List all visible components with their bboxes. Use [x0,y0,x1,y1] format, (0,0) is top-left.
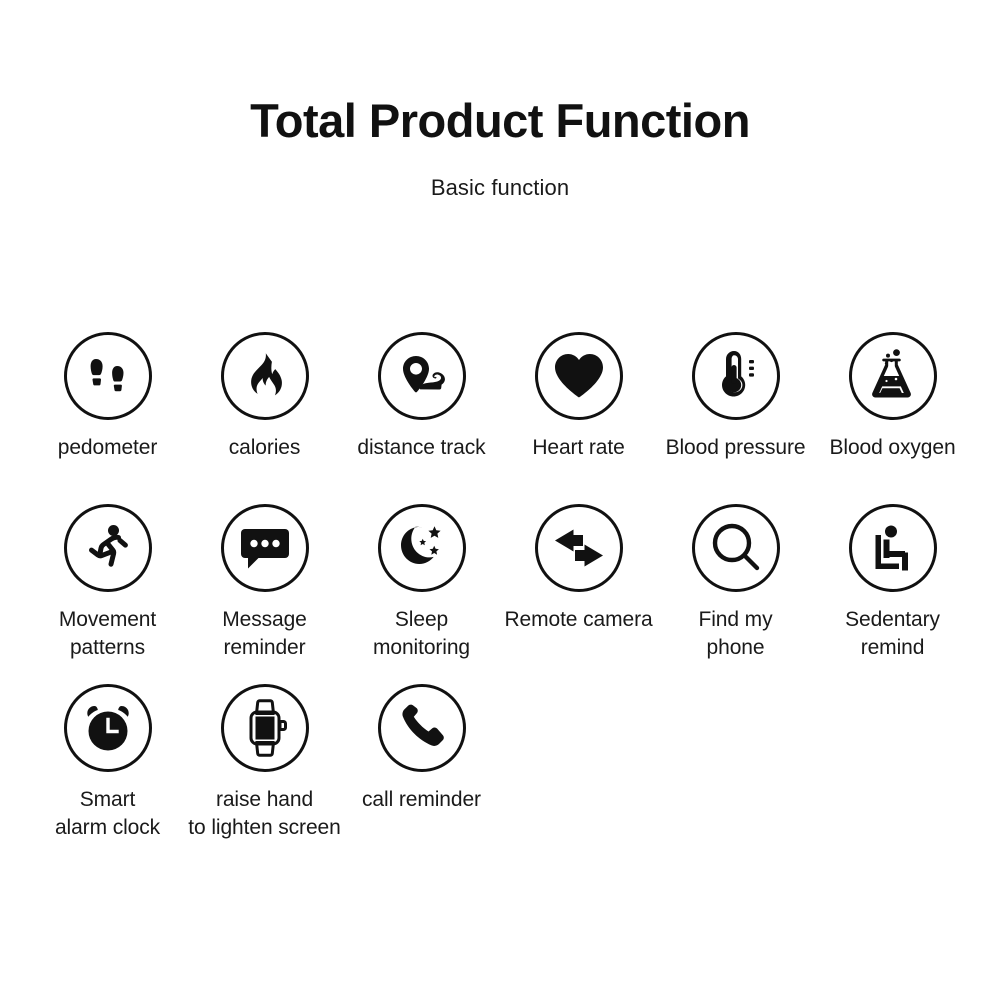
feature-item-pedometer[interactable]: pedometer [29,332,186,504]
feature-label: Sleep monitoring [373,606,470,662]
seated-person-icon [849,504,937,592]
feature-grid: pedometer calories distance track [0,332,1000,844]
feature-item-movement-patterns[interactable]: Movement patterns [29,504,186,684]
page-header: Total Product Function Basic function [0,0,1000,201]
feature-label: calories [229,434,301,462]
map-pin-route-icon [378,332,466,420]
footprints-icon [64,332,152,420]
feature-row-1: pedometer calories distance track [0,332,1000,504]
feature-label: Message reminder [222,606,307,662]
feature-item-distance-track[interactable]: distance track [343,332,500,504]
feature-label: distance track [357,434,485,462]
feature-item-blood-pressure[interactable]: Blood pressure [657,332,814,504]
phone-handset-icon [378,684,466,772]
feature-label: Smart alarm clock [55,786,160,842]
feature-label: Remote camera [479,606,679,634]
feature-item-remote-camera[interactable]: Remote camera [500,504,657,684]
feature-item-sedentary-remind[interactable]: Sedentary remind [814,504,971,684]
moon-stars-icon [378,504,466,592]
feature-item-find-my-phone[interactable]: Find my phone [657,504,814,684]
feature-row-3: Smart alarm clock raise hand to lighten … [0,684,1000,844]
feature-row-2: Movement patterns Message reminder [0,504,1000,684]
feature-item-calories[interactable]: calories [186,332,343,504]
feature-label: Heart rate [532,434,624,462]
feature-label: Sedentary remind [845,606,940,662]
feature-item-sleep-monitoring[interactable]: Sleep monitoring [343,504,500,684]
feature-label: Movement patterns [59,606,156,662]
feature-item-raise-hand[interactable]: raise hand to lighten screen [186,684,343,844]
speech-bubble-dots-icon [221,504,309,592]
feature-item-message-reminder[interactable]: Message reminder [186,504,343,684]
thermometer-icon [692,332,780,420]
feature-item-heart-rate[interactable]: Heart rate [500,332,657,504]
flame-icon [221,332,309,420]
feature-label: pedometer [58,434,158,462]
page-subtitle: Basic function [0,147,1000,201]
feature-label: call reminder [362,786,481,814]
feature-row-3-spacer-1 [500,684,657,844]
heart-icon [535,332,623,420]
feature-item-call-reminder[interactable]: call reminder [343,684,500,844]
page-title: Total Product Function [0,96,1000,147]
feature-item-blood-oxygen[interactable]: Blood oxygen [814,332,971,504]
alarm-clock-icon [64,684,152,772]
feature-row-3-spacer-3 [814,684,971,844]
smartwatch-icon [221,684,309,772]
flask-bubbles-icon [849,332,937,420]
feature-label: Find my phone [699,606,773,662]
running-person-icon [64,504,152,592]
feature-label: Blood oxygen [793,434,993,462]
feature-row-3-spacer-2 [657,684,814,844]
double-arrow-icon [535,504,623,592]
magnifier-icon [692,504,780,592]
